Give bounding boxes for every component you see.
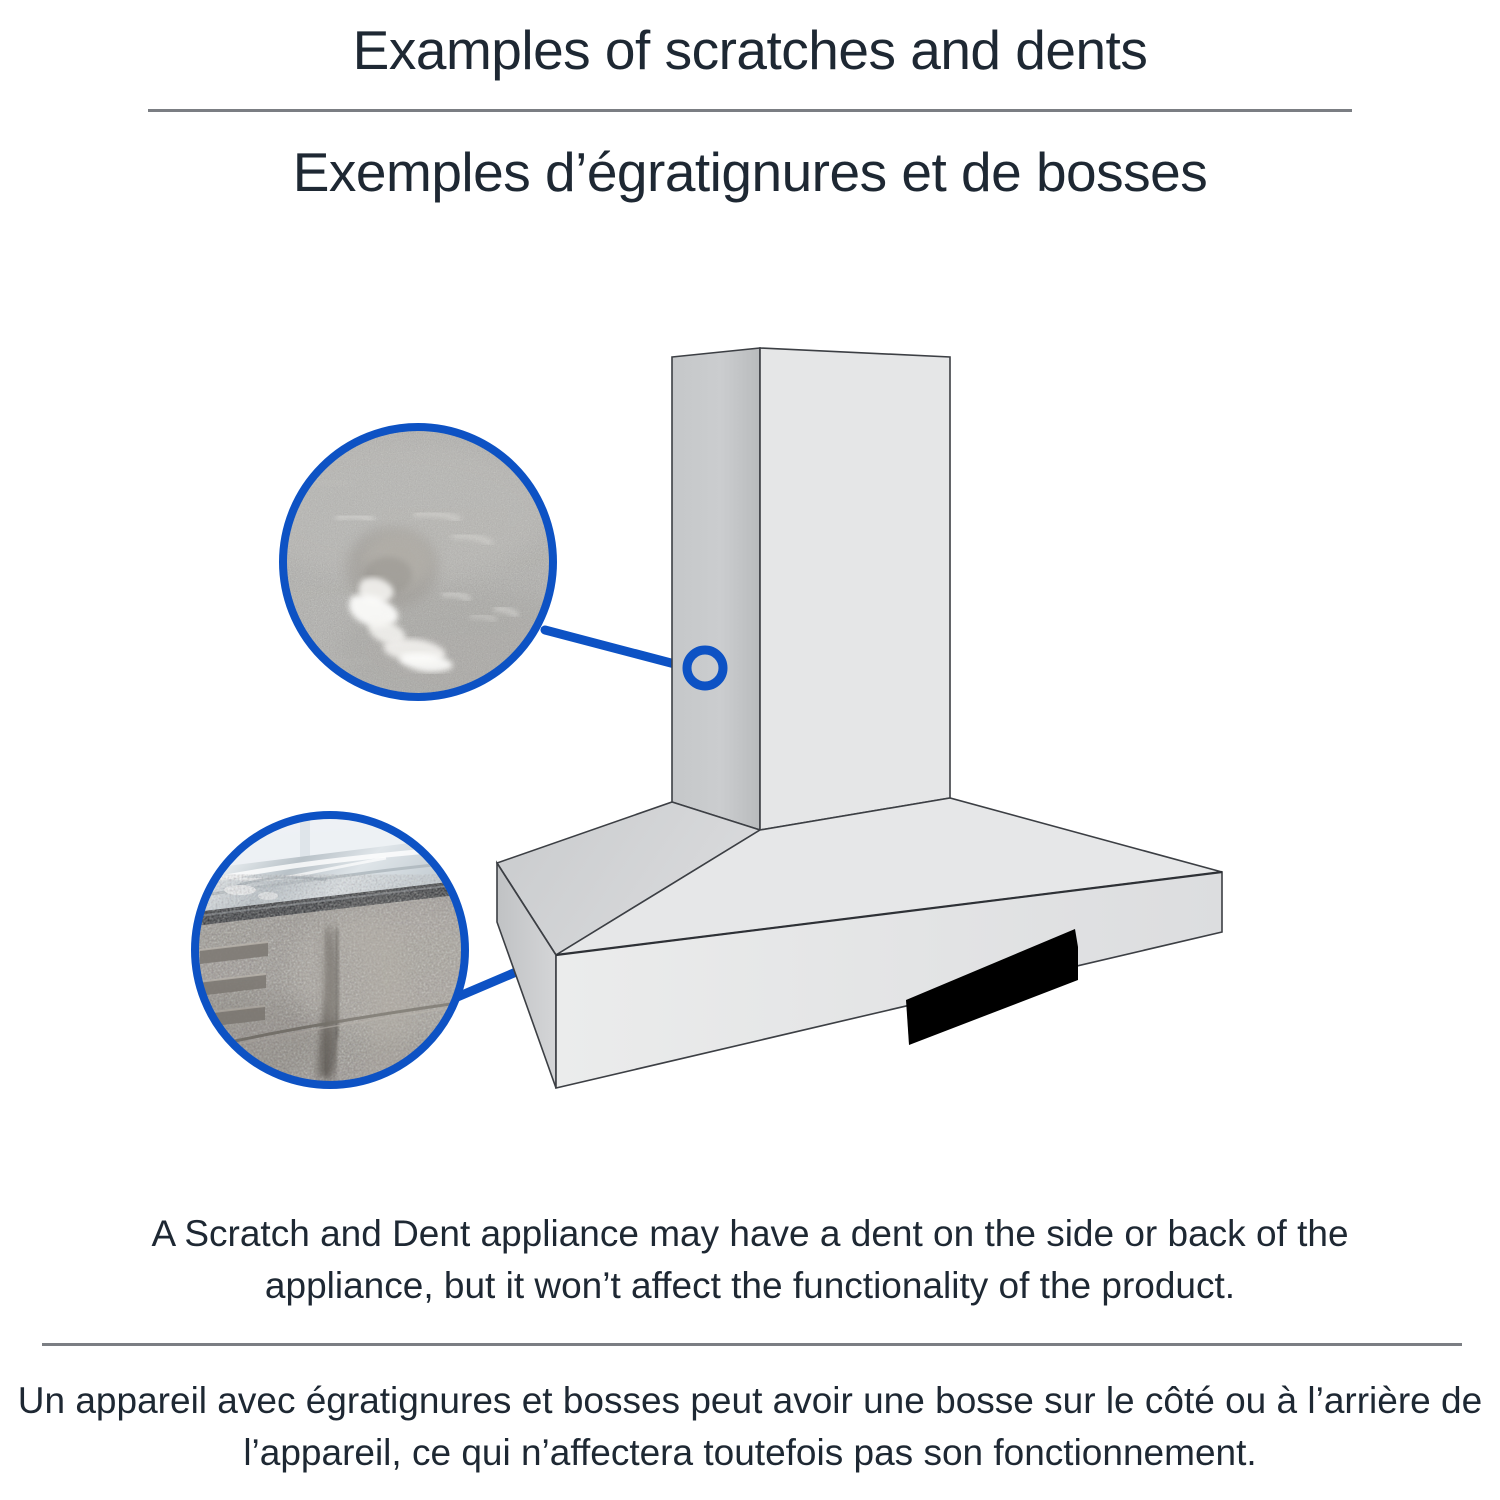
leader-line-scratch: [545, 630, 690, 668]
illustration-stage: [0, 250, 1500, 1150]
callout-dent[interactable]: [140, 815, 510, 1090]
callout-scratch[interactable]: [250, 427, 600, 710]
chimney-front-face: [760, 348, 950, 830]
range-hood: [497, 348, 1222, 1088]
caption-english: A Scratch and Dent appliance may have a …: [110, 1208, 1390, 1312]
scratch-and-dent-infographic: Examples of scratches and dents Exemples…: [0, 0, 1500, 1500]
divider-top: [148, 109, 1352, 112]
page-title-english: Examples of scratches and dents: [0, 14, 1500, 86]
range-hood-illustration: [0, 250, 1500, 1150]
scratch-photo: [250, 427, 600, 710]
divider-bottom: [42, 1343, 1462, 1346]
chimney-left-face: [672, 348, 760, 830]
page-title-french: Exemples d’égratignures et de bosses: [0, 136, 1500, 208]
caption-french: Un appareil avec égratignures et bosses …: [10, 1375, 1490, 1479]
